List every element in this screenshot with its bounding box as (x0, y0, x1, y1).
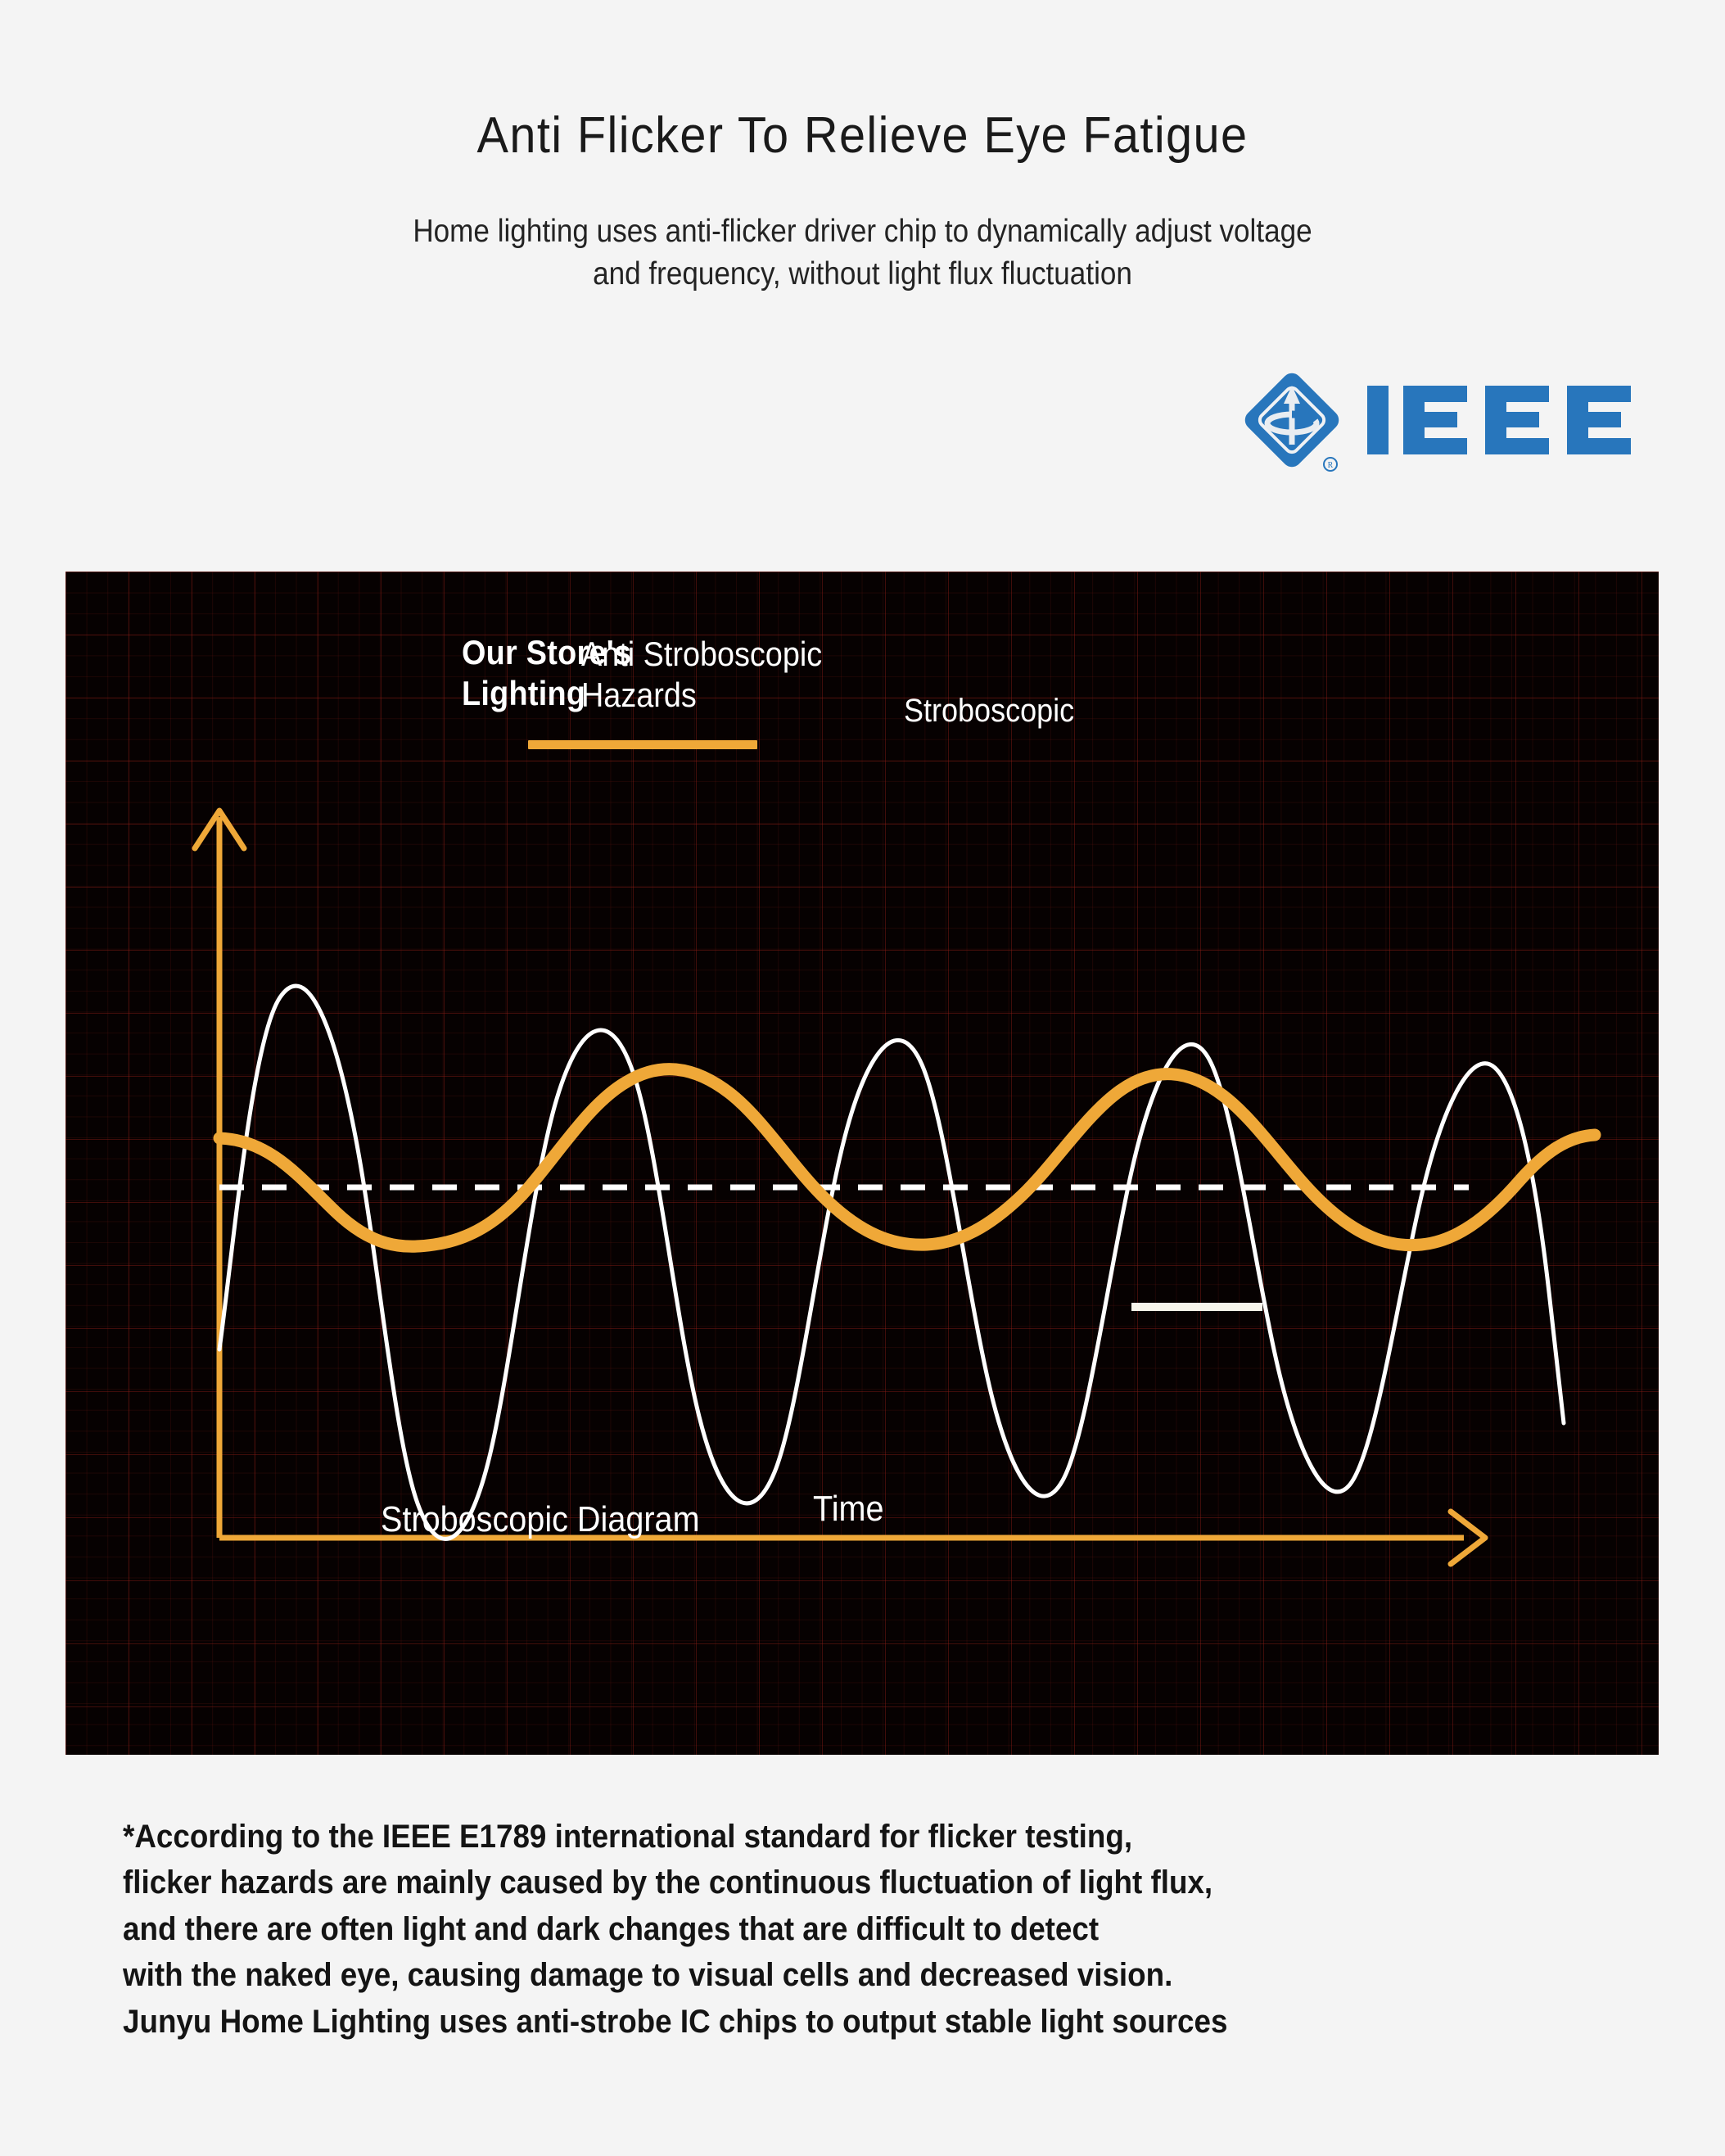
page-subtitle: Home lighting uses anti-flicker driver c… (86, 165, 1638, 296)
header: Anti Flicker To Relieve Eye Fatigue Home… (0, 0, 1725, 296)
ieee-wordmark (1366, 379, 1644, 461)
stroboscopic-chart-panel: Our Store's Lighting Anti Stroboscopic H… (65, 572, 1659, 1755)
x-axis (219, 1512, 1485, 1564)
footnote: *According to the IEEE E1789 internation… (123, 1814, 1524, 2045)
page-subtitle-line-2: and frequency, without light flux fluctu… (86, 253, 1638, 296)
ieee-logo: R (1236, 360, 1654, 479)
page-subtitle-line-1: Home lighting uses anti-flicker driver c… (86, 210, 1638, 253)
svg-text:R: R (1328, 461, 1334, 470)
our-store-lighting-curve (219, 1069, 1595, 1246)
y-axis (195, 811, 244, 1538)
footnote-line-1: *According to the IEEE E1789 internation… (123, 1814, 1524, 1860)
promo-page: Anti Flicker To Relieve Eye Fatigue Home… (0, 0, 1725, 2156)
footnote-line-5: Junyu Home Lighting uses anti-strobe IC … (123, 1999, 1524, 2045)
stroboscopic-curve (219, 986, 1564, 1539)
page-title: Anti Flicker To Relieve Eye Fatigue (61, 0, 1665, 165)
footnote-line-2: flicker hazards are mainly caused by the… (123, 1860, 1524, 1905)
footnote-line-4: with the naked eye, causing damage to vi… (123, 1952, 1524, 1998)
footnote-line-3: and there are often light and dark chang… (123, 1906, 1524, 1952)
chart-plot (65, 572, 1659, 1755)
ieee-diamond-icon: R (1236, 364, 1348, 476)
